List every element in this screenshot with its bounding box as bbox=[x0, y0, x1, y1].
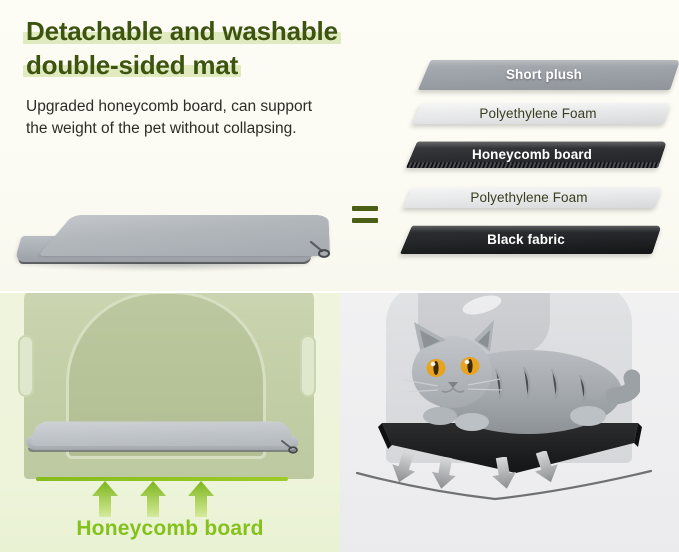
headline-line-2-text: double-sided mat bbox=[26, 50, 238, 80]
headline-line-1-text: Detachable and washable bbox=[26, 16, 338, 46]
comparison-section: Honeycomb board bbox=[0, 293, 679, 552]
subtitle-line-2: the weight of the pet without collapsing… bbox=[26, 118, 386, 140]
layer-slab-2 bbox=[406, 142, 667, 168]
sagging-curve-line bbox=[355, 469, 655, 505]
equals-bar-top bbox=[352, 206, 378, 211]
flat-gray-mat bbox=[26, 410, 298, 458]
zipper-pull-icon bbox=[308, 238, 330, 260]
subtitle-text: Upgraded honeycomb board, can support th… bbox=[26, 96, 386, 141]
layer-slab-3 bbox=[403, 187, 662, 208]
gray-shorthair-cat-illustration bbox=[400, 316, 640, 448]
layer-polyethylene-foam-upper: Polyethylene Foam bbox=[412, 102, 664, 124]
subtitle-line-1: Upgraded honeycomb board, can support bbox=[26, 96, 386, 118]
comparison-panel-honeycomb: Honeycomb board bbox=[0, 293, 340, 552]
layer-stack-diagram: Short plush Polyethylene Foam Honeycomb … bbox=[400, 58, 672, 284]
layer-slab-4 bbox=[400, 226, 661, 254]
label-honeycomb-board: Honeycomb board bbox=[0, 517, 340, 541]
layer-black-fabric: Black fabric bbox=[400, 224, 652, 254]
mat-good-top-surface bbox=[30, 421, 294, 446]
layer-slab-0 bbox=[418, 60, 679, 90]
comparison-panel-pp-board: PP board bbox=[340, 293, 679, 552]
infographic-root: Detachable and washable double-sided mat… bbox=[0, 0, 679, 552]
up-arrow-1-icon bbox=[92, 481, 118, 517]
layer-polyethylene-foam-lower: Polyethylene Foam bbox=[403, 186, 655, 208]
headline-line-1: Detachable and washable bbox=[26, 16, 338, 47]
layer-honeycomb-board: Honeycomb board bbox=[406, 140, 658, 168]
honeycomb-flute-pattern bbox=[406, 162, 660, 168]
layer-short-plush: Short plush bbox=[418, 58, 670, 90]
page-title: Detachable and washable double-sided mat bbox=[26, 16, 406, 83]
green-carrier-handle-left bbox=[18, 335, 34, 397]
green-carrier-handle-right bbox=[300, 335, 316, 397]
zipper-pull-icon-good bbox=[280, 438, 298, 456]
headline-line-2: double-sided mat bbox=[26, 50, 238, 81]
up-arrow-3-icon bbox=[188, 481, 214, 517]
mat-product-photo bbox=[8, 178, 344, 282]
layer-slab-1 bbox=[412, 103, 671, 124]
equals-sign-icon bbox=[352, 204, 378, 228]
mat-top-surface bbox=[38, 215, 330, 256]
up-arrow-2-icon bbox=[140, 481, 166, 517]
top-section: Detachable and washable double-sided mat… bbox=[0, 0, 679, 293]
equals-bar-bottom bbox=[352, 218, 378, 223]
